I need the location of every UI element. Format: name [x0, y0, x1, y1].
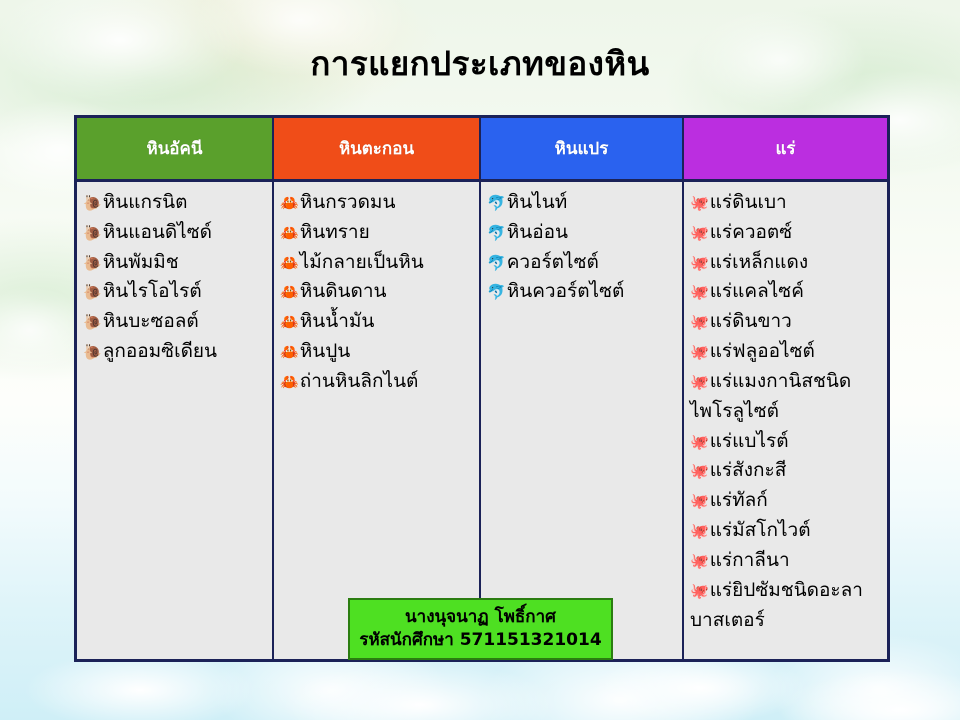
dolphin-icon: 🐬 [487, 222, 506, 246]
list-item: 🦀หินดินดาน [280, 277, 475, 307]
list-item-label: แร่สังกะสี [710, 459, 787, 481]
list-item: 🐙แร่มัสโกไวต์ [690, 516, 883, 546]
octopus-icon: 🐙 [690, 281, 709, 305]
rock-classification-table: หินอัคนี หินตะกอน หินแปร แร่ 🐌หินแกรนิต🐌… [74, 115, 890, 662]
list-item: 🐙แร่แมงกานิสชนิดไพโรลูไซต์ [690, 367, 883, 427]
list-item-label: หินแกรนิต [103, 191, 188, 213]
list-item: 🐬ควอร์ตไซต์ [487, 248, 678, 278]
list-item: 🐙แร่ยิปซัมชนิดอะลาบาสเตอร์ [690, 576, 883, 636]
list-item-label: แร่ฟลูออไซต์ [710, 340, 815, 362]
list-item-label: แร่ดินขาว [710, 310, 792, 332]
snail-icon: 🐌 [83, 192, 102, 216]
snail-icon: 🐌 [83, 281, 102, 305]
list-item-label: หินปูน [300, 340, 351, 362]
crab-icon: 🦀 [280, 192, 299, 216]
octopus-icon: 🐙 [690, 252, 709, 276]
list-item: 🐌หินไรโอไรต์ [83, 277, 268, 307]
rock-list-sedimentary: 🦀หินกรวดมน🦀หินทราย🦀ไม้กลายเป็นหิน🦀หินดิน… [280, 188, 475, 397]
column-header-label: หินอัคนี [146, 135, 202, 162]
rock-list-minerals: 🐙แร่ดินเบา🐙แร่ควอตซ์🐙แร่เหล็กแดง🐙แร่แคลไ… [690, 188, 883, 635]
column-header-label: หินแปร [555, 135, 609, 162]
column-header-label: แร่ [775, 135, 795, 162]
list-item: 🦀ไม้กลายเป็นหิน [280, 248, 475, 278]
list-item: 🐙แร่ทัลก์ [690, 486, 883, 516]
list-item-label: หินอ่อน [507, 221, 568, 243]
list-item: 🐙แร่ดินขาว [690, 307, 883, 337]
page-title: การแยกประเภทของหิน [0, 46, 960, 82]
list-item: 🐙แร่แบไรต์ [690, 427, 883, 457]
list-item-label: แร่เหล็กแดง [710, 251, 808, 273]
crab-icon: 🦀 [280, 341, 299, 365]
octopus-icon: 🐙 [690, 520, 709, 544]
column-header-sedimentary: หินตะกอน [274, 118, 481, 179]
octopus-icon: 🐙 [690, 222, 709, 246]
snail-icon: 🐌 [83, 311, 102, 335]
list-item: 🦀หินกรวดมน [280, 188, 475, 218]
column-body-minerals: 🐙แร่ดินเบา🐙แร่ควอตซ์🐙แร่เหล็กแดง🐙แร่แคลไ… [684, 182, 887, 659]
list-item-label: หินควอร์ตไซต์ [507, 280, 625, 302]
list-item-label: แร่ทัลก์ [710, 489, 768, 511]
list-item: 🐙แร่ฟลูออไซต์ [690, 337, 883, 367]
list-item: 🐌หินแอนดิไซด์ [83, 218, 268, 248]
list-item-label: ไม้กลายเป็นหิน [300, 251, 424, 273]
list-item-label: หินไรโอไรต์ [103, 280, 202, 302]
snail-icon: 🐌 [83, 252, 102, 276]
list-item-label: หินกรวดมน [300, 191, 396, 213]
crab-icon: 🦀 [280, 281, 299, 305]
list-item: 🐙แร่แคลไซค์ [690, 277, 883, 307]
list-item: 🦀หินปูน [280, 337, 475, 367]
dolphin-icon: 🐬 [487, 252, 506, 276]
table-body-row: 🐌หินแกรนิต🐌หินแอนดิไซด์🐌หินพัมมิช🐌หินไรโ… [77, 182, 887, 659]
dolphin-icon: 🐬 [487, 281, 506, 305]
list-item-label: แร่ดินเบา [710, 191, 787, 213]
octopus-icon: 🐙 [690, 580, 709, 604]
list-item-label: แร่แมงกานิสชนิดไพโรลูไซต์ [690, 370, 851, 422]
list-item-label: ลูกออมซิเดียน [103, 340, 217, 362]
snail-icon: 🐌 [83, 222, 102, 246]
octopus-icon: 🐙 [690, 341, 709, 365]
list-item-label: หินแอนดิไซด์ [103, 221, 212, 243]
column-body-igneous: 🐌หินแกรนิต🐌หินแอนดิไซด์🐌หินพัมมิช🐌หินไรโ… [77, 182, 274, 659]
octopus-icon: 🐙 [690, 460, 709, 484]
octopus-icon: 🐙 [690, 192, 709, 216]
list-item: 🐙แร่สังกะสี [690, 456, 883, 486]
list-item: 🐬หินควอร์ตไซต์ [487, 277, 678, 307]
list-item-label: ควอร์ตไซต์ [507, 251, 599, 273]
dolphin-icon: 🐬 [487, 192, 506, 216]
crab-icon: 🦀 [280, 222, 299, 246]
crab-icon: 🦀 [280, 252, 299, 276]
list-item-label: แร่กาลีนา [710, 549, 790, 571]
column-header-label: หินตะกอน [339, 135, 414, 162]
list-item: 🐬หินไนท์ [487, 188, 678, 218]
octopus-icon: 🐙 [690, 311, 709, 335]
list-item-label: แร่ควอตซ์ [710, 221, 792, 243]
table-header-row: หินอัคนี หินตะกอน หินแปร แร่ [77, 118, 887, 182]
list-item: 🐌หินบะซอลต์ [83, 307, 268, 337]
octopus-icon: 🐙 [690, 490, 709, 514]
column-body-metamorphic: 🐬หินไนท์🐬หินอ่อน🐬ควอร์ตไซต์🐬หินควอร์ตไซต… [481, 182, 684, 659]
list-item-label: แร่แบไรต์ [710, 430, 789, 452]
list-item-label: แร่มัสโกไวต์ [710, 519, 811, 541]
snail-icon: 🐌 [83, 341, 102, 365]
list-item-label: แร่ยิปซัมชนิดอะลาบาสเตอร์ [690, 579, 863, 631]
list-item: 🐙แร่ควอตซ์ [690, 218, 883, 248]
crab-icon: 🦀 [280, 311, 299, 335]
list-item: 🐬หินอ่อน [487, 218, 678, 248]
rock-list-metamorphic: 🐬หินไนท์🐬หินอ่อน🐬ควอร์ตไซต์🐬หินควอร์ตไซต… [487, 188, 678, 307]
author-name: นางนุจนาฏ โพธิ์กาศ [405, 606, 556, 629]
list-item: 🦀ถ่านหินลิกไนต์ [280, 367, 475, 397]
list-item-label: หินไนท์ [507, 191, 568, 213]
octopus-icon: 🐙 [690, 371, 709, 395]
list-item: 🐌หินพัมมิช [83, 248, 268, 278]
author-credit-box: นางนุจนาฏ โพธิ์กาศ รหัสนักศึกษา 57115132… [348, 598, 613, 660]
column-header-minerals: แร่ [684, 118, 887, 179]
octopus-icon: 🐙 [690, 550, 709, 574]
list-item: 🐌หินแกรนิต [83, 188, 268, 218]
list-item: 🐌ลูกออมซิเดียน [83, 337, 268, 367]
list-item-label: ถ่านหินลิกไนต์ [300, 370, 419, 392]
list-item: 🦀หินน้ำมัน [280, 307, 475, 337]
list-item-label: แร่แคลไซค์ [710, 280, 804, 302]
column-header-igneous: หินอัคนี [77, 118, 274, 179]
student-id: รหัสนักศึกษา 571151321014 [359, 629, 601, 652]
crab-icon: 🦀 [280, 371, 299, 395]
list-item: 🦀หินทราย [280, 218, 475, 248]
list-item: 🐙แร่เหล็กแดง [690, 248, 883, 278]
rock-list-igneous: 🐌หินแกรนิต🐌หินแอนดิไซด์🐌หินพัมมิช🐌หินไรโ… [83, 188, 268, 367]
list-item: 🐙แร่กาลีนา [690, 546, 883, 576]
column-header-metamorphic: หินแปร [481, 118, 684, 179]
list-item-label: หินดินดาน [300, 280, 387, 302]
octopus-icon: 🐙 [690, 431, 709, 455]
list-item: 🐙แร่ดินเบา [690, 188, 883, 218]
column-body-sedimentary: 🦀หินกรวดมน🦀หินทราย🦀ไม้กลายเป็นหิน🦀หินดิน… [274, 182, 481, 659]
list-item-label: หินทราย [300, 221, 370, 243]
list-item-label: หินบะซอลต์ [103, 310, 199, 332]
list-item-label: หินพัมมิช [103, 251, 179, 273]
list-item-label: หินน้ำมัน [300, 310, 375, 332]
